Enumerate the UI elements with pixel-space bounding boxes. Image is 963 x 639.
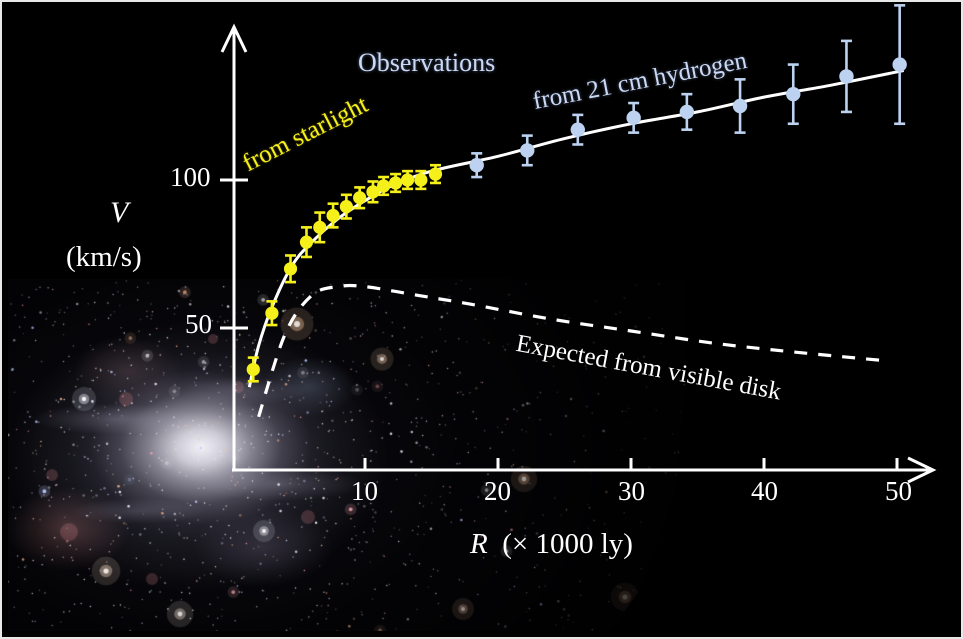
- x-tick-label-50: 50: [885, 476, 912, 507]
- data-point: [839, 69, 853, 83]
- data-point: [401, 173, 414, 186]
- data-point: [520, 143, 534, 157]
- data-point: [414, 173, 427, 186]
- x-tick-label-20: 20: [484, 476, 511, 507]
- x-axis-symbol: R: [470, 528, 488, 560]
- data-point: [680, 105, 694, 119]
- data-point: [326, 209, 339, 222]
- data-point: [340, 200, 353, 213]
- y-tick-label-100: 100: [170, 162, 211, 193]
- x-axis-label: R (× 1000 ly): [470, 528, 633, 561]
- starlight-datapoints: [247, 165, 442, 381]
- data-point: [247, 363, 260, 376]
- y-axis-units: (km/s): [66, 241, 142, 274]
- x-tick-label-30: 30: [618, 476, 645, 507]
- data-point: [626, 111, 640, 125]
- data-point: [300, 236, 313, 249]
- data-point: [389, 176, 402, 189]
- observations-title: Observations: [358, 48, 495, 78]
- y-tick-label-50: 50: [185, 309, 212, 340]
- data-point: [313, 221, 326, 234]
- data-point: [265, 307, 278, 320]
- x-tick-label-10: 10: [351, 476, 378, 507]
- y-axis-symbol: V: [110, 196, 128, 230]
- rotation-curve-figure: Observations from starlight from 21 cm h…: [0, 0, 963, 639]
- data-point: [470, 158, 484, 172]
- data-point: [571, 122, 585, 136]
- data-point: [892, 57, 906, 71]
- data-point: [377, 179, 390, 192]
- x-tick-label-40: 40: [751, 476, 778, 507]
- data-point: [353, 191, 366, 204]
- data-point: [733, 99, 747, 113]
- data-point: [284, 262, 297, 275]
- data-point: [429, 167, 442, 180]
- x-axis-unit-text: (× 1000 ly): [502, 528, 633, 560]
- data-point: [786, 87, 800, 101]
